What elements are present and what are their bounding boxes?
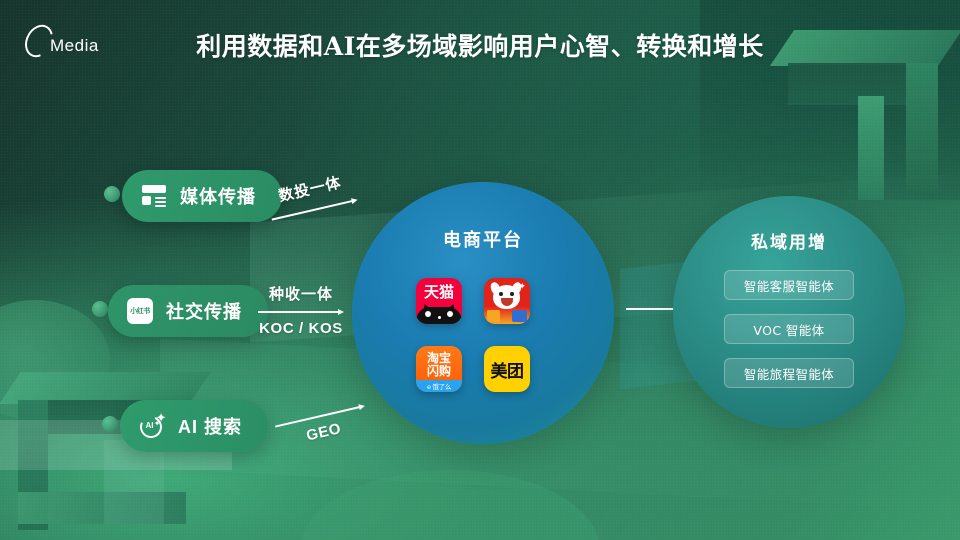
app-icon-taobao-shangou[interactable]: 淘宝 闪购 e 饿了么: [416, 346, 462, 392]
ecommerce-platform-circle: 电商平台 天猫 ✦ 淘宝 闪购 e 饿了么: [352, 182, 614, 444]
bg-3d-glyph-stem-left: [858, 96, 884, 200]
bg-blob-bottom: [300, 470, 600, 540]
connector-text-en-2: KOC / KOS: [258, 320, 344, 337]
channel-label-social: 社交传播: [166, 298, 242, 324]
agent-pill-voc[interactable]: VOC 智能体: [724, 314, 854, 344]
ecommerce-app-grid: 天猫 ✦ 淘宝 闪购 e 饿了么 美团: [416, 278, 552, 392]
page-title: 利用数据和AI在多场域影响用户心智、转换和增长: [0, 27, 960, 63]
channel-card-ai-search[interactable]: AI ✦ ✦ AI 搜索: [120, 400, 268, 452]
app-icon-jd[interactable]: ✦: [484, 278, 530, 324]
bg-blob-left: [0, 300, 110, 420]
xiaohongshu-icon: 小红书: [126, 297, 154, 325]
connector-label-media: 数投一体: [265, 169, 360, 228]
connector-dot-aisearch: [102, 416, 118, 432]
connector-label-social: 种收一体 KOC / KOS: [258, 283, 344, 337]
ai-icon-text: AI: [146, 421, 154, 430]
connector-text-cn-2: 种收一体: [258, 283, 344, 304]
private-domain-circle: 私域用增 智能客服智能体 VOC 智能体 智能旅程智能体: [673, 196, 905, 428]
connector-label-ai-search: GEO: [273, 398, 370, 451]
ecommerce-title: 电商平台: [352, 226, 614, 252]
connector-dot-social: [92, 301, 108, 317]
bg-3d-glyph-shadow: [788, 63, 936, 105]
agent-pill-customer-service[interactable]: 智能客服智能体: [724, 270, 854, 300]
bg-3d-g-inner: [104, 440, 164, 524]
taobao-shangou-strip: e 饿了么: [416, 380, 462, 392]
bg-3d-g-left-stem: [18, 400, 48, 530]
media-layout-icon: [140, 182, 168, 210]
app-icon-tmall[interactable]: 天猫: [416, 278, 462, 324]
channel-card-media[interactable]: 媒体传播: [122, 170, 282, 222]
slide-canvas: Media 利用数据和AI在多场域影响用户心智、转换和增长 媒体传播 小红书 社…: [0, 0, 960, 540]
agent-pill-journey[interactable]: 智能旅程智能体: [724, 358, 854, 388]
app-icon-meituan[interactable]: 美团: [484, 346, 530, 392]
taobao-shangou-line2: 闪购: [416, 362, 462, 379]
tmall-icon-text: 天猫: [416, 281, 462, 302]
private-domain-agent-list: 智能客服智能体 VOC 智能体 智能旅程智能体: [690, 270, 888, 388]
meituan-icon-text: 美团: [491, 357, 524, 382]
ai-sparkle-search-icon: AI ✦ ✦: [138, 412, 166, 440]
channel-card-social[interactable]: 小红书 社交传播: [108, 285, 268, 337]
connector-dot-media: [104, 186, 120, 202]
bg-3d-glyph-stem-right: [906, 63, 938, 193]
private-domain-title: 私域用增: [673, 228, 905, 253]
connector-arrow-2: [258, 307, 344, 317]
bg-3d-g-bottom: [18, 492, 186, 524]
xiaohongshu-icon-text: 小红书: [130, 306, 150, 316]
channel-label-ai-search: AI 搜索: [178, 413, 242, 439]
channel-label-media: 媒体传播: [180, 183, 256, 209]
